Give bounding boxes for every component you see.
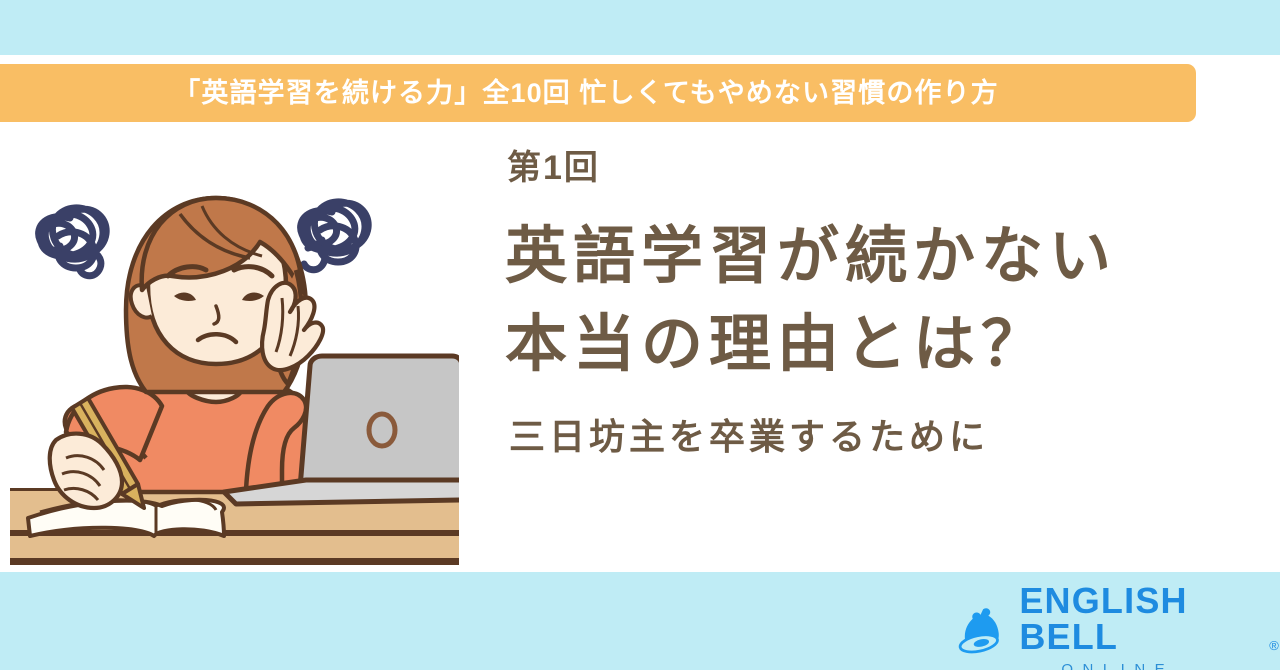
- brand-logo: ENGLISH BELL ® ONLINE: [952, 583, 1280, 670]
- page-title: 英語学習が続かない 本当の理由とは？: [505, 213, 1265, 389]
- subtitle: 三日坊主を卒業するために: [509, 415, 1265, 458]
- top-blue-band: [0, 0, 1280, 55]
- text-column: 第1回 英語学習が続かない 本当の理由とは？ 三日坊主を卒業するために: [505, 150, 1265, 459]
- headline-line-2: 本当の理由とは？: [505, 301, 1265, 389]
- logo-name: ENGLISH BELL: [1019, 583, 1266, 655]
- bell-icon: [952, 599, 1007, 661]
- episode-number: 第1回: [507, 150, 1265, 187]
- logo-tagline: ONLINE: [1061, 662, 1174, 670]
- series-ribbon-text: 「英語学習を続ける力」全10回 忙しくてもやめない習慣の作り方: [173, 80, 998, 107]
- logo-name-row: ENGLISH BELL ®: [1019, 583, 1280, 655]
- frustrated-woman-studying-illustration: [10, 140, 459, 566]
- series-ribbon: 「英語学習を続ける力」全10回 忙しくてもやめない習慣の作り方: [0, 64, 1196, 122]
- logo-wordmark: ENGLISH BELL ® ONLINE: [1019, 583, 1280, 670]
- laptop-screen: [300, 356, 459, 488]
- headline-line-1: 英語学習が続かない: [505, 213, 1265, 301]
- promo-banner: 「英語学習を続ける力」全10回 忙しくてもやめない習慣の作り方: [0, 0, 1280, 670]
- registered-mark: ®: [1269, 639, 1280, 652]
- illustration-svg: [10, 140, 459, 566]
